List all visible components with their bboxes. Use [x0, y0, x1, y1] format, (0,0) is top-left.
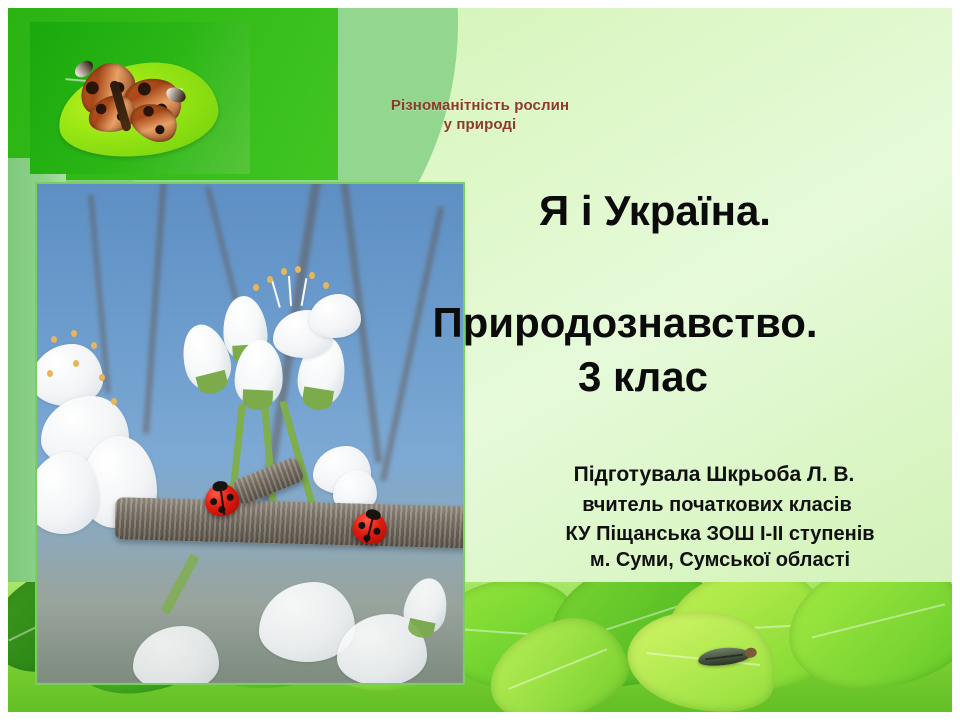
ladybug-spot: [373, 527, 381, 535]
background-branch: [143, 182, 167, 434]
ladybug-spot: [358, 521, 366, 529]
ladybug-spot: [363, 534, 371, 542]
flower-anther: [111, 398, 117, 405]
flower-stem: [279, 400, 317, 512]
flower-anther: [253, 284, 259, 291]
flower-stamen: [288, 276, 292, 306]
leaf: [782, 582, 952, 697]
flower-anther: [51, 336, 57, 343]
ladybug-spot: [210, 498, 218, 506]
blossom-petal: [35, 452, 99, 534]
tree-branch: [115, 497, 465, 549]
title-line-subject: Я і Україна.: [298, 188, 952, 234]
flower-anther: [99, 374, 105, 381]
title-spacer: [298, 234, 952, 296]
heading-line-2: у природі: [8, 115, 952, 134]
author-city: м. Суми, Сумської області: [488, 547, 952, 573]
ladybug-spot: [226, 493, 234, 501]
page-title: Я і Україна. Природознавство. 3 клас: [298, 188, 952, 404]
flower-anther: [281, 268, 287, 275]
flower-anther: [267, 276, 273, 283]
slide-canvas: Різноманітність рослин у природі Я і Укр…: [8, 8, 952, 712]
flower-anther: [91, 342, 97, 349]
title-line-grade: 3 клас: [298, 350, 952, 404]
title-line-course: Природознавство.: [298, 296, 952, 350]
flower-anther: [47, 370, 53, 377]
flower-stamen: [271, 280, 281, 307]
flower-anther: [71, 330, 77, 337]
author-role: вчитель початкових класів: [488, 489, 952, 521]
flower-anther: [73, 360, 79, 367]
author-school: КУ Піщанська ЗОШ І-ІІ ступенів: [488, 521, 952, 547]
author-name: Підготувала Шкрьоба Л. В.: [488, 461, 952, 489]
author-credits: Підготувала Шкрьоба Л. В. вчитель початк…: [488, 461, 952, 573]
slide-heading: Різноманітність рослин у природі: [8, 96, 952, 134]
presentation-slide: Різноманітність рослин у природі Я і Укр…: [0, 0, 960, 720]
heading-line-1: Різноманітність рослин: [8, 96, 952, 115]
